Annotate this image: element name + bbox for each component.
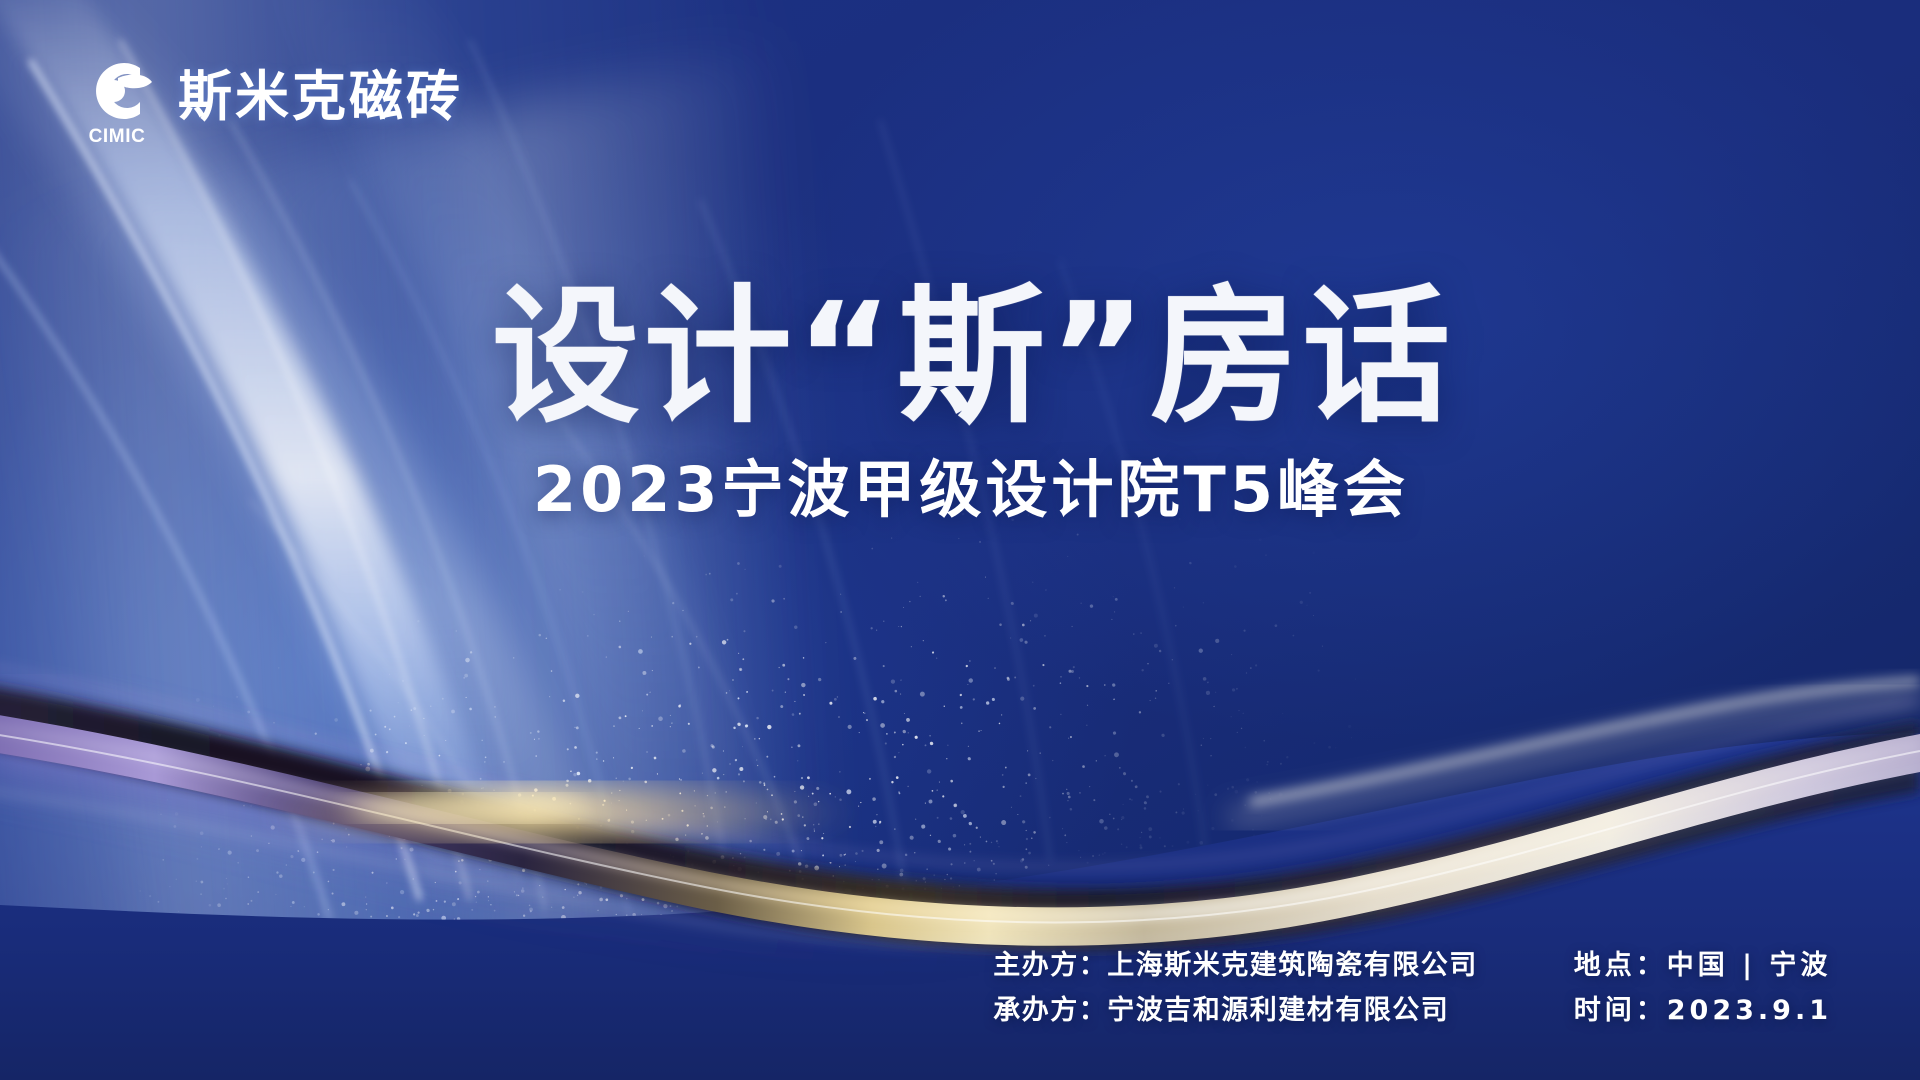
brand-wordmark: 斯米克磁砖 — [178, 70, 463, 124]
headline-block: 设计“斯”房话 2023宁波甲级设计院T5峰会 — [0, 282, 1920, 521]
footer-date-line: 时间：2023.9.1 — [1574, 995, 1832, 1028]
poster-footer: 主办方：上海斯米克建筑陶瓷有限公司 承办方：宁波吉和源利建材有限公司 地点：中国… — [0, 950, 1920, 1028]
poster-subtitle: 2023宁波甲级设计院T5峰会 — [0, 459, 1920, 521]
event-poster: CIMIC 斯米克磁砖 设计“斯”房话 2023宁波甲级设计院T5峰会 主办方：… — [0, 0, 1920, 1080]
footer-location-line: 地点：中国 | 宁波 — [1574, 950, 1832, 983]
light-ray-glow-secondary — [0, 45, 1081, 1080]
poster-title: 设计“斯”房话 — [466, 282, 1455, 433]
footer-organizers: 主办方：上海斯米克建筑陶瓷有限公司 承办方：宁波吉和源利建材有限公司 — [993, 950, 1478, 1028]
light-ray-glow-primary — [0, 0, 1082, 1080]
cimic-abbr-text: CIMIC — [78, 127, 156, 146]
footer-coordinator-line: 承办方：宁波吉和源利建材有限公司 — [993, 995, 1478, 1028]
metallic-ribbon-wave — [0, 0, 1920, 1080]
brand-logo: CIMIC 斯米克磁砖 — [78, 56, 463, 144]
light-streak-lines — [0, 0, 1920, 1080]
light-rays-decoration — [0, 0, 1920, 1080]
footer-host-line: 主办方：上海斯米克建筑陶瓷有限公司 — [993, 950, 1478, 983]
cimic-c-logo-icon: CIMIC — [78, 56, 156, 144]
footer-event-details: 地点：中国 | 宁波 时间：2023.9.1 — [1574, 950, 1832, 1028]
